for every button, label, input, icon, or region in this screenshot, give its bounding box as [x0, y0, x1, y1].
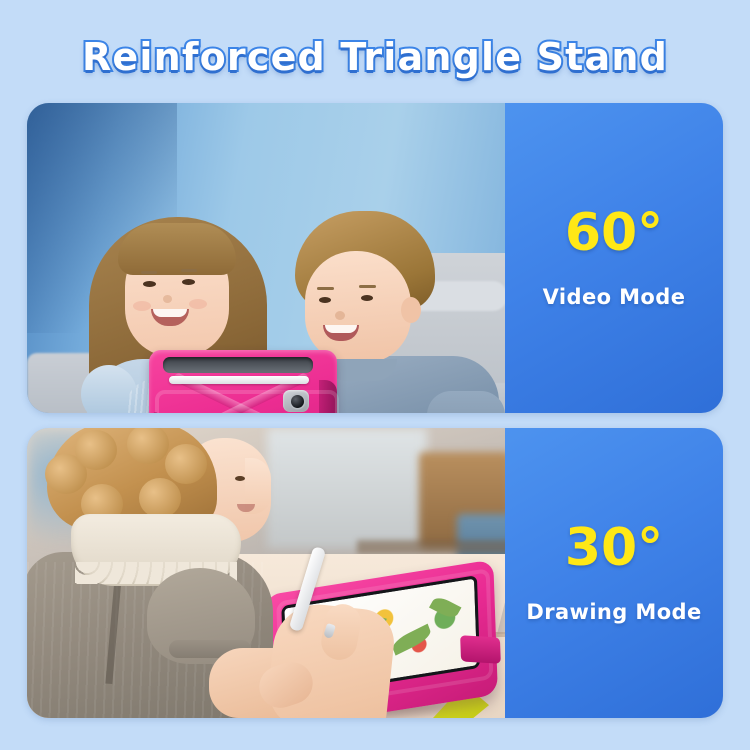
boy-nose — [335, 311, 345, 320]
girl-teeth — [153, 309, 187, 317]
tablet-in-pink-case — [149, 350, 337, 413]
boy-eye-right — [361, 295, 373, 301]
boy-eyebrow-left — [317, 287, 334, 290]
girl-eye-left — [143, 281, 156, 287]
carry-handle-slot — [163, 357, 313, 373]
girl2-eye — [235, 476, 245, 481]
photo-drawing-mode — [27, 428, 505, 718]
background-shelf — [357, 540, 505, 554]
boy-ear — [401, 297, 421, 323]
case-button-cutout — [153, 412, 158, 413]
angle-value-video: 60° — [565, 207, 663, 259]
stylus-in-holder — [169, 376, 309, 384]
page-title-container: Reinforced Triangle Stand — [0, 24, 750, 90]
case-side-face — [460, 635, 501, 663]
girl-eyebrow-right — [181, 269, 197, 272]
girl-eye-right — [182, 279, 195, 285]
camera-lens-icon — [291, 395, 304, 408]
girl2-curl — [165, 444, 207, 484]
mode-label-video: Video Mode — [543, 285, 686, 309]
feature-card-video-mode[interactable]: 60° Video Mode — [27, 103, 723, 413]
angle-panel-video: 60° Video Mode — [505, 103, 723, 413]
girl-fringe — [118, 223, 236, 275]
boy-face — [305, 251, 411, 363]
boy-eyebrow-right — [359, 285, 376, 288]
photo-video-mode — [27, 103, 505, 413]
boy-teeth — [325, 325, 357, 333]
girl2-curl — [139, 478, 181, 518]
boy-eye-left — [319, 297, 331, 303]
girl2-curl — [75, 430, 117, 470]
mode-label-drawing: Drawing Mode — [526, 600, 701, 624]
girl-eyebrow-left — [141, 271, 157, 274]
girl-cheek-right — [189, 299, 207, 309]
feature-card-drawing-mode[interactable]: 30° Drawing Mode — [27, 428, 723, 718]
product-feature-image: Reinforced Triangle Stand — [0, 0, 750, 750]
girl-nose — [163, 295, 172, 303]
angle-panel-drawing: 30° Drawing Mode — [505, 428, 723, 718]
girl-cheek-left — [133, 301, 151, 311]
page-title: Reinforced Triangle Stand — [82, 35, 668, 79]
angle-value-drawing: 30° — [565, 522, 663, 574]
boy-sleeve — [427, 391, 505, 413]
